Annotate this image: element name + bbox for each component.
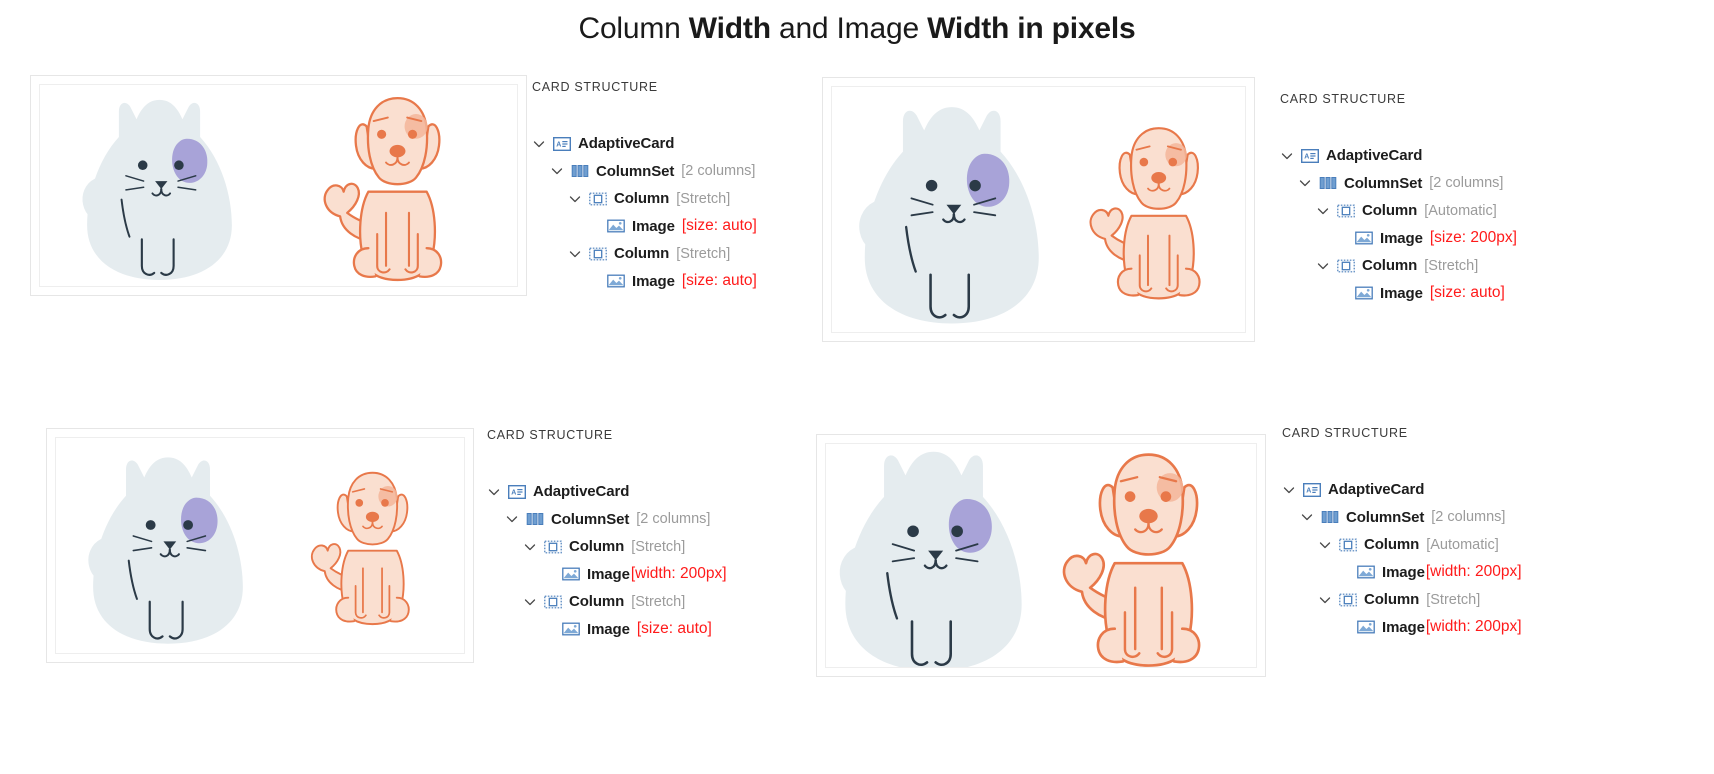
example-top-right-card-preview[interactable] (822, 77, 1255, 342)
tree-node-column[interactable]: Column[Stretch] (532, 185, 757, 213)
adaptive-card-icon: A (1303, 482, 1321, 497)
svg-text:A: A (1304, 153, 1309, 160)
cat-illustration (63, 441, 273, 651)
card-body (831, 86, 1246, 333)
image-icon (562, 622, 580, 637)
tree-node-label: Image (1382, 564, 1425, 581)
tree-node-meta: [2 columns] (1429, 175, 1503, 191)
column-icon (1339, 592, 1357, 607)
tree-node-meta: [Stretch] (676, 246, 730, 262)
cat-illustration (58, 85, 261, 286)
tree-node-meta: [2 columns] (636, 511, 710, 527)
structure-heading: CARD STRUCTURE (1280, 92, 1517, 106)
example-top-left-structure-panel: CARD STRUCTURE A AdaptiveCard ColumnSet[… (532, 80, 757, 295)
tree-node-image[interactable]: Image[width: 200px] (1282, 559, 1522, 587)
tree-node-label: Image (632, 273, 675, 290)
svg-text:A: A (1306, 487, 1311, 494)
tree-node-image[interactable]: Image[width: 200px] (487, 561, 727, 589)
column-set-icon (1321, 510, 1339, 525)
tree-node-meta: [Automatic] (1424, 203, 1497, 219)
example-top-left-card-preview[interactable] (30, 75, 527, 296)
tree-node-columnset[interactable]: ColumnSet[2 columns] (1282, 504, 1522, 532)
tree-node-label: Image (1382, 619, 1425, 636)
cat-illustration (832, 88, 1072, 332)
card-body (825, 443, 1257, 668)
tree-node-columnset[interactable]: ColumnSet[2 columns] (487, 506, 727, 534)
tree-node-image[interactable]: Image[size: auto] (487, 616, 727, 644)
tree-node-label: ColumnSet (1344, 175, 1422, 192)
tree-node-adaptivecard[interactable]: A AdaptiveCard (1282, 476, 1522, 504)
tree-node-label: Column (1362, 202, 1417, 219)
tree-node-label: Image (632, 218, 675, 235)
title-bold-2: Width in pixels (927, 12, 1135, 45)
dog-illustration (296, 85, 499, 286)
tree-node-adaptivecard[interactable]: A AdaptiveCard (1280, 142, 1517, 170)
column-icon (589, 246, 607, 261)
chevron-down-icon[interactable] (568, 192, 582, 206)
card-column-1[interactable] (56, 438, 280, 653)
page-title: Column Width and Image Width in pixels (0, 12, 1714, 46)
chevron-down-icon[interactable] (1300, 510, 1314, 524)
svg-text:A: A (511, 489, 516, 496)
tree-node-meta: [Stretch] (1424, 258, 1478, 274)
tree-node-label: Column (569, 593, 624, 610)
svg-text:A: A (556, 141, 561, 148)
tree-node-image[interactable]: Image[width: 200px] (1282, 614, 1522, 642)
tree-node-meta: [2 columns] (681, 163, 755, 179)
image-icon (1355, 231, 1373, 246)
tree-node-column[interactable]: Column[Stretch] (1280, 252, 1517, 280)
card-column-2[interactable] (280, 438, 464, 653)
tree-node-image[interactable]: Image[size: auto] (532, 213, 757, 241)
tree-node-image[interactable]: Image[size: auto] (1280, 280, 1517, 308)
tree-node-annotation: [width: 200px] (1426, 563, 1522, 581)
column-icon (1337, 203, 1355, 218)
tree-node-columnset[interactable]: ColumnSet[2 columns] (532, 158, 757, 186)
chevron-down-icon[interactable] (1298, 176, 1312, 190)
example-top-right-structure-panel: CARD STRUCTURE A AdaptiveCard ColumnSet[… (1280, 92, 1517, 307)
chevron-down-icon[interactable] (1318, 538, 1332, 552)
card-column-1[interactable] (832, 87, 1072, 332)
card-column-2[interactable] (279, 85, 518, 286)
title-bold-1: Width (689, 12, 771, 45)
tree-node-label: Image (587, 621, 630, 638)
adaptive-card-icon: A (1301, 148, 1319, 163)
tree-node-column[interactable]: Column[Stretch] (532, 240, 757, 268)
example-bottom-left-structure-panel: CARD STRUCTURE A AdaptiveCard ColumnSet[… (487, 428, 727, 643)
tree-node-annotation: [size: auto] (637, 620, 712, 638)
chevron-down-icon[interactable] (523, 595, 537, 609)
tree-node-image[interactable]: Image[size: auto] (532, 268, 757, 296)
chevron-down-icon[interactable] (1316, 204, 1330, 218)
tree-node-label: Column (1364, 536, 1419, 553)
column-set-icon (1319, 176, 1337, 191)
tree-node-meta: [Automatic] (1426, 537, 1499, 553)
tree-node-meta: [Stretch] (631, 539, 685, 555)
tree-node-label: AdaptiveCard (578, 135, 674, 152)
card-structure-tree: A AdaptiveCard ColumnSet[2 columns] Colu… (487, 478, 727, 643)
tree-node-label: Column (569, 538, 624, 555)
chevron-down-icon[interactable] (568, 247, 582, 261)
chevron-down-icon[interactable] (1282, 483, 1296, 497)
dog-illustration (288, 461, 457, 630)
tree-node-annotation: [size: auto] (682, 217, 757, 235)
tree-node-label: ColumnSet (551, 511, 629, 528)
column-icon (544, 539, 562, 554)
card-structure-tree: A AdaptiveCard ColumnSet[2 columns] Colu… (1282, 476, 1522, 641)
tree-node-label: Column (614, 245, 669, 262)
column-icon (1339, 537, 1357, 552)
tree-node-label: Column (1362, 257, 1417, 274)
page-root: Column Width and Image Width in pixels (0, 0, 1714, 774)
tree-node-meta: [2 columns] (1431, 509, 1505, 525)
image-icon (562, 567, 580, 582)
example-bottom-left-card-preview[interactable] (46, 428, 474, 663)
tree-node-meta: [Stretch] (631, 594, 685, 610)
tree-node-adaptivecard[interactable]: A AdaptiveCard (487, 478, 727, 506)
adaptive-card-icon: A (553, 136, 571, 151)
tree-node-image[interactable]: Image[size: 200px] (1280, 225, 1517, 253)
tree-node-label: Image (587, 566, 630, 583)
card-column-1[interactable] (40, 85, 279, 286)
column-set-icon (526, 512, 544, 527)
tree-node-annotation: [width: 200px] (1426, 618, 1522, 636)
tree-node-column[interactable]: Column[Automatic] (1280, 197, 1517, 225)
dog-illustration (1072, 110, 1245, 310)
tree-node-label: Column (614, 190, 669, 207)
card-body (55, 437, 465, 654)
card-column-2[interactable] (1041, 444, 1256, 667)
tree-node-columnset[interactable]: ColumnSet[2 columns] (1280, 170, 1517, 198)
image-icon (1357, 620, 1375, 635)
tree-node-annotation: [size: auto] (682, 272, 757, 290)
chevron-down-icon[interactable] (523, 540, 537, 554)
card-column-1[interactable] (826, 444, 1041, 667)
dog-illustration (1041, 444, 1256, 667)
tree-node-label: Column (1364, 591, 1419, 608)
chevron-down-icon[interactable] (1316, 259, 1330, 273)
adaptive-card-icon: A (508, 484, 526, 499)
tree-node-column[interactable]: Column[Automatic] (1282, 531, 1522, 559)
tree-node-column[interactable]: Column[Stretch] (1282, 586, 1522, 614)
tree-node-label: AdaptiveCard (1328, 481, 1424, 498)
column-icon (1337, 258, 1355, 273)
tree-node-label: AdaptiveCard (1326, 147, 1422, 164)
title-part-2: and Image (771, 12, 927, 45)
chevron-down-icon[interactable] (550, 164, 564, 178)
image-icon (607, 219, 625, 234)
card-column-2[interactable] (1072, 87, 1245, 332)
image-icon (1355, 286, 1373, 301)
card-structure-tree: A AdaptiveCard ColumnSet[2 columns] Colu… (532, 130, 757, 295)
structure-heading: CARD STRUCTURE (487, 428, 727, 442)
example-bottom-right-structure-panel: CARD STRUCTURE A AdaptiveCard ColumnSet[… (1282, 426, 1522, 641)
column-icon (589, 191, 607, 206)
chevron-down-icon[interactable] (1280, 149, 1294, 163)
example-bottom-right-card-preview[interactable] (816, 434, 1266, 677)
tree-node-column[interactable]: Column[Stretch] (487, 533, 727, 561)
tree-node-label: Image (1380, 285, 1423, 302)
chevron-down-icon[interactable] (505, 512, 519, 526)
image-icon (607, 274, 625, 289)
tree-node-annotation: [size: 200px] (1430, 229, 1517, 247)
structure-heading: CARD STRUCTURE (1282, 426, 1522, 440)
tree-node-label: ColumnSet (596, 163, 674, 180)
tree-node-meta: [Stretch] (1426, 592, 1480, 608)
chevron-down-icon[interactable] (487, 485, 501, 499)
tree-node-meta: [Stretch] (676, 191, 730, 207)
tree-node-adaptivecard[interactable]: A AdaptiveCard (532, 130, 757, 158)
chevron-down-icon[interactable] (532, 137, 546, 151)
structure-heading: CARD STRUCTURE (532, 80, 757, 94)
tree-node-annotation: [width: 200px] (631, 565, 727, 583)
tree-node-label: Image (1380, 230, 1423, 247)
chevron-down-icon[interactable] (1318, 593, 1332, 607)
tree-node-label: AdaptiveCard (533, 483, 629, 500)
tree-node-annotation: [size: auto] (1430, 284, 1505, 302)
tree-node-label: ColumnSet (1346, 509, 1424, 526)
card-structure-tree: A AdaptiveCard ColumnSet[2 columns] Colu… (1280, 142, 1517, 307)
cat-illustration (826, 444, 1041, 667)
tree-node-column[interactable]: Column[Stretch] (487, 588, 727, 616)
title-part-1: Column (578, 12, 688, 45)
column-set-icon (571, 164, 589, 179)
card-body (39, 84, 518, 287)
column-icon (544, 594, 562, 609)
image-icon (1357, 565, 1375, 580)
